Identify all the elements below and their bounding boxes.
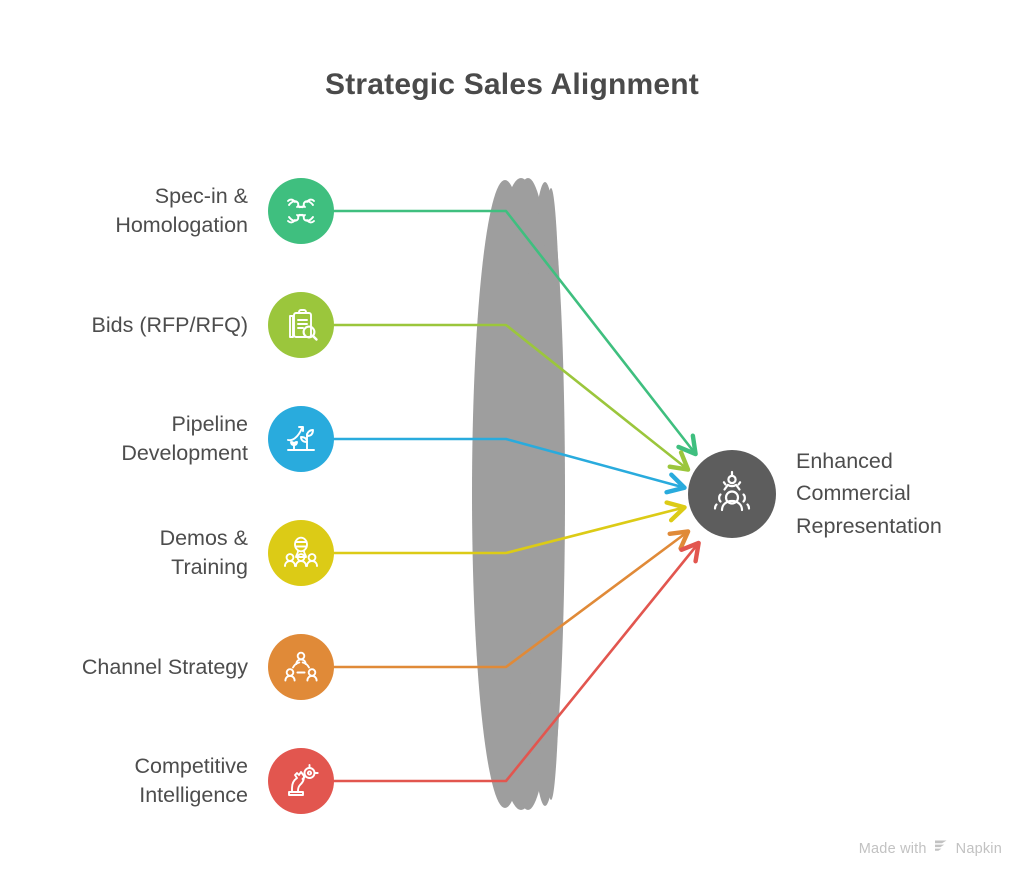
growth-plant-icon xyxy=(281,419,321,459)
clipboard-search-icon xyxy=(281,305,321,345)
source-label: Channel Strategy xyxy=(82,653,248,682)
target-node[interactable]: Enhanced Commercial Representation xyxy=(688,450,988,540)
napkin-chevrons-icon xyxy=(933,839,950,858)
source-icon-circle[interactable] xyxy=(268,520,334,586)
source-label: Spec-in & Homologation xyxy=(115,182,248,239)
source-node-demos[interactable]: Demos & Training xyxy=(0,520,350,586)
source-icon-circle[interactable] xyxy=(268,634,334,700)
target-icon-circle[interactable] xyxy=(688,450,776,538)
source-label-wrap: Bids (RFP/RFQ) xyxy=(0,292,248,358)
source-icon-circle[interactable] xyxy=(268,178,334,244)
source-icon-circle[interactable] xyxy=(268,748,334,814)
puzzle-handshake-icon xyxy=(281,191,321,231)
source-label-wrap: Demos & Training xyxy=(0,520,248,586)
team-leadership-icon xyxy=(706,466,758,523)
napkin-watermark: Made with Napkin xyxy=(859,839,1002,858)
diagram-canvas: Strategic Sales Alignment xyxy=(0,0,1024,886)
source-label: Competitive Intelligence xyxy=(134,752,248,809)
source-label: Bids (RFP/RFQ) xyxy=(92,311,248,340)
target-label: Enhanced Commercial Representation xyxy=(796,445,996,542)
presenter-audience-icon xyxy=(281,533,321,573)
people-network-icon xyxy=(281,647,321,687)
source-label-wrap: Pipeline Development xyxy=(0,406,248,472)
source-node-channel[interactable]: Channel Strategy xyxy=(0,634,350,700)
watermark-brand: Napkin xyxy=(956,841,1002,857)
source-node-pipeline[interactable]: Pipeline Development xyxy=(0,406,350,472)
source-label: Demos & Training xyxy=(160,524,248,581)
source-label-wrap: Competitive Intelligence xyxy=(0,748,248,814)
source-node-spec-in[interactable]: Spec-in & Homologation xyxy=(0,178,350,244)
source-node-competitive[interactable]: Competitive Intelligence xyxy=(0,748,350,814)
source-icon-circle[interactable] xyxy=(268,406,334,472)
source-icon-circle[interactable] xyxy=(268,292,334,358)
layered-lens-stack xyxy=(472,178,565,810)
source-node-bids[interactable]: Bids (RFP/RFQ) xyxy=(0,292,350,358)
source-label-wrap: Spec-in & Homologation xyxy=(0,178,248,244)
source-label: Pipeline Development xyxy=(121,410,248,467)
source-label-wrap: Channel Strategy xyxy=(0,634,248,700)
watermark-prefix: Made with xyxy=(859,841,927,857)
chess-knight-target-icon xyxy=(281,761,321,801)
